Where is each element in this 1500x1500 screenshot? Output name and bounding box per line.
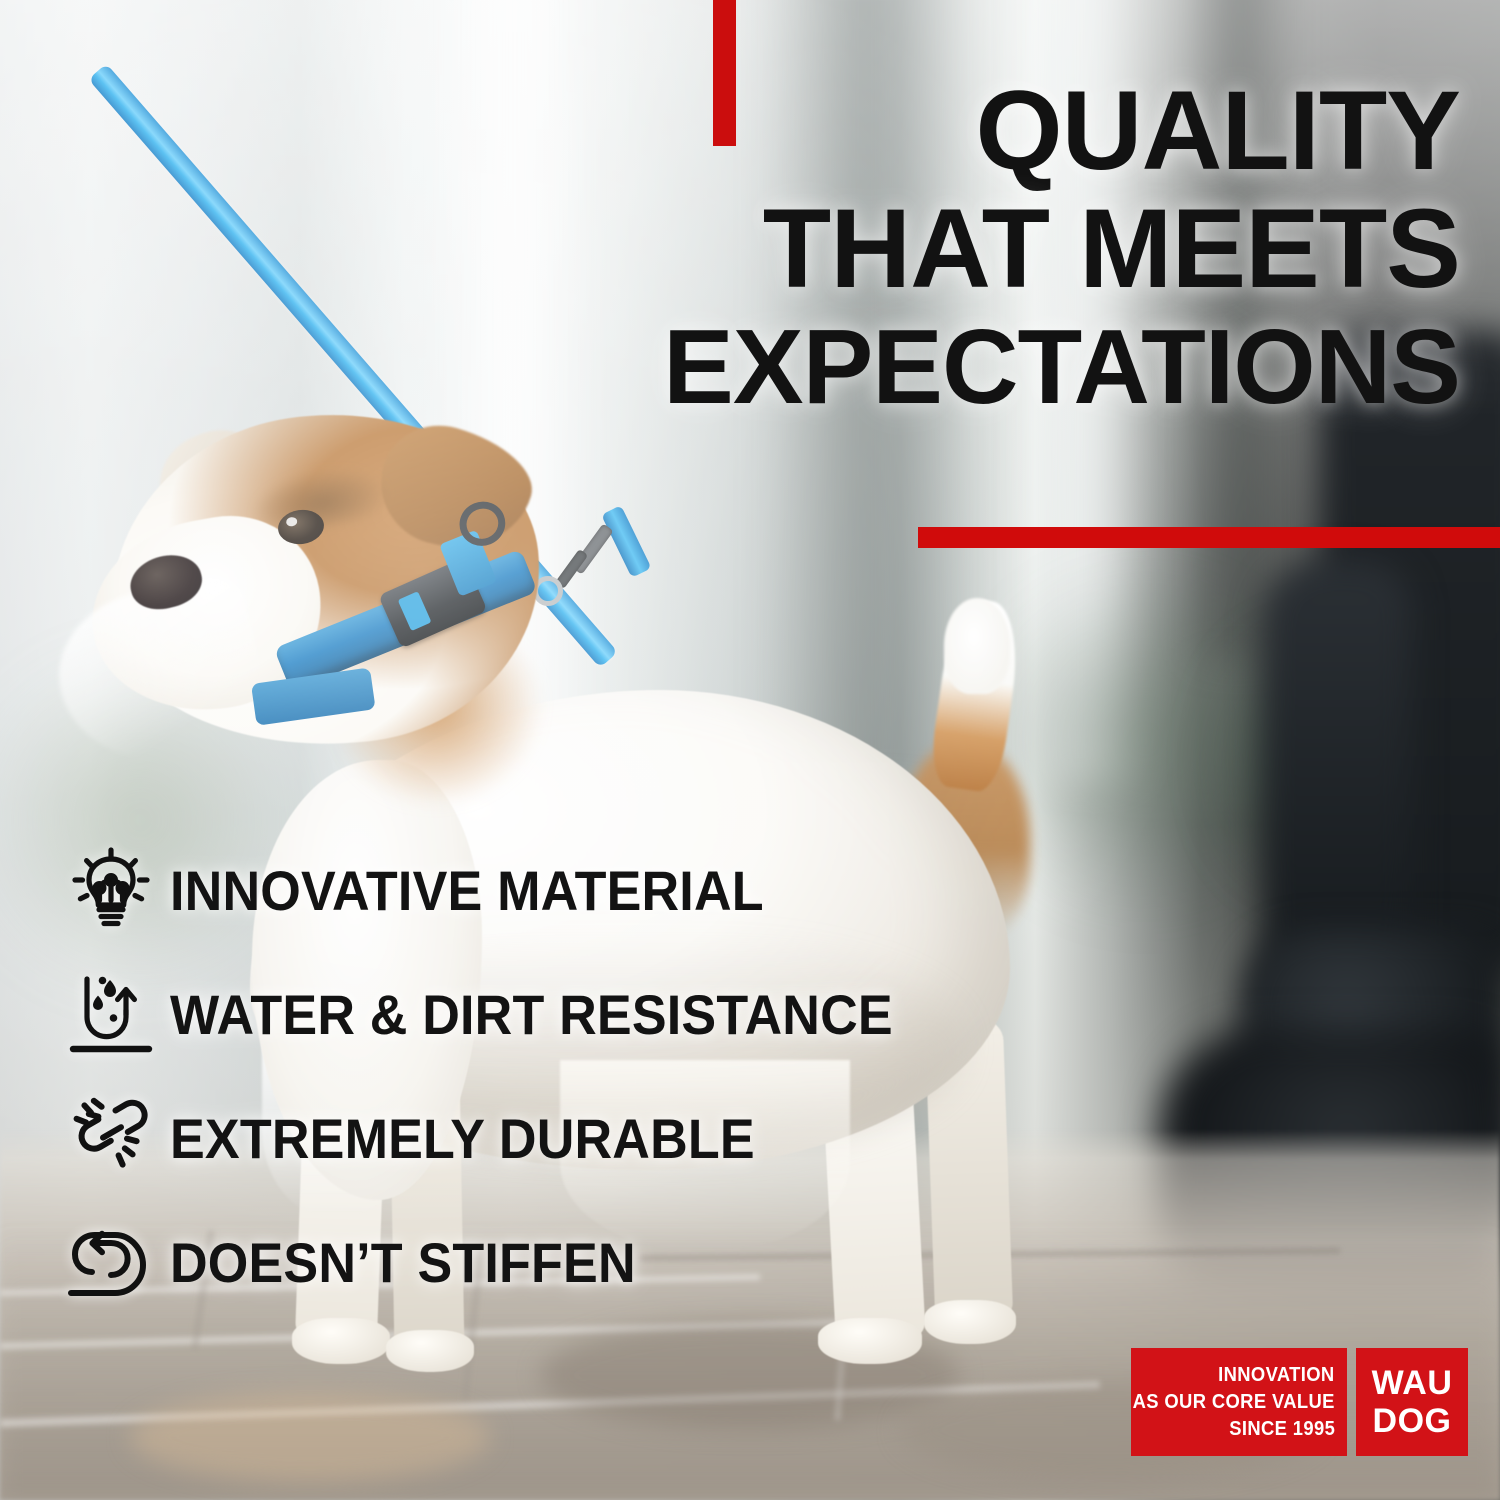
brand-mark-block: WAU DOG xyxy=(1356,1348,1468,1456)
brand-logo: INNOVATION AS OUR CORE VALUE SINCE 1995 … xyxy=(1131,1348,1468,1456)
page-title: QUALITY THAT MEETS EXPECTATIONS xyxy=(520,72,1460,426)
dog-paw xyxy=(386,1330,474,1372)
brand-claim-line-3: SINCE 1995 xyxy=(1229,1416,1335,1443)
headline-line-1: QUALITY xyxy=(520,72,1460,190)
brand-claim-block: INNOVATION AS OUR CORE VALUE SINCE 1995 xyxy=(1131,1348,1347,1456)
feature-item-extremely-durable: EXTREMELY DURABLE xyxy=(52,1076,1052,1200)
lightbulb-idea-icon xyxy=(52,847,170,933)
feature-item-water-dirt-resistance: WATER & DIRT RESISTANCE xyxy=(52,952,1052,1076)
feature-label: INNOVATIVE MATERIAL xyxy=(170,858,764,923)
feature-item-innovative-material: INNOVATIVE MATERIAL xyxy=(52,828,1052,952)
brand-name-line-1: WAU xyxy=(1372,1364,1453,1402)
brand-claim-line-1: INNOVATION xyxy=(1219,1362,1335,1389)
feature-label: EXTREMELY DURABLE xyxy=(170,1106,755,1171)
feature-label: WATER & DIRT RESISTANCE xyxy=(170,982,893,1047)
dog-paw xyxy=(292,1318,390,1364)
dog-paw xyxy=(818,1318,922,1364)
brand-claim-line-2: AS OUR CORE VALUE xyxy=(1133,1389,1335,1416)
product-feature-poster: QUALITY THAT MEETS EXPECTATIONS INNOVATI… xyxy=(0,0,1500,1500)
headline-line-2: THAT MEETS xyxy=(520,190,1460,308)
chain-link-strength-icon xyxy=(52,1096,170,1180)
headline-line-3: EXPECTATIONS xyxy=(520,308,1460,426)
brand-name-line-2: DOG xyxy=(1373,1402,1452,1440)
feature-label: DOESN’T STIFFEN xyxy=(170,1230,636,1295)
dog-tail-tip xyxy=(944,598,1010,694)
red-accent-bar-horizontal xyxy=(918,527,1500,548)
flexible-curl-arrow-icon xyxy=(52,1221,170,1303)
feature-list: INNOVATIVE MATERIAL WATER & DIRT RESISTA… xyxy=(52,828,1052,1324)
feature-item-doesnt-stiffen: DOESN’T STIFFEN xyxy=(52,1200,1052,1324)
water-drop-repellent-icon xyxy=(52,971,170,1057)
